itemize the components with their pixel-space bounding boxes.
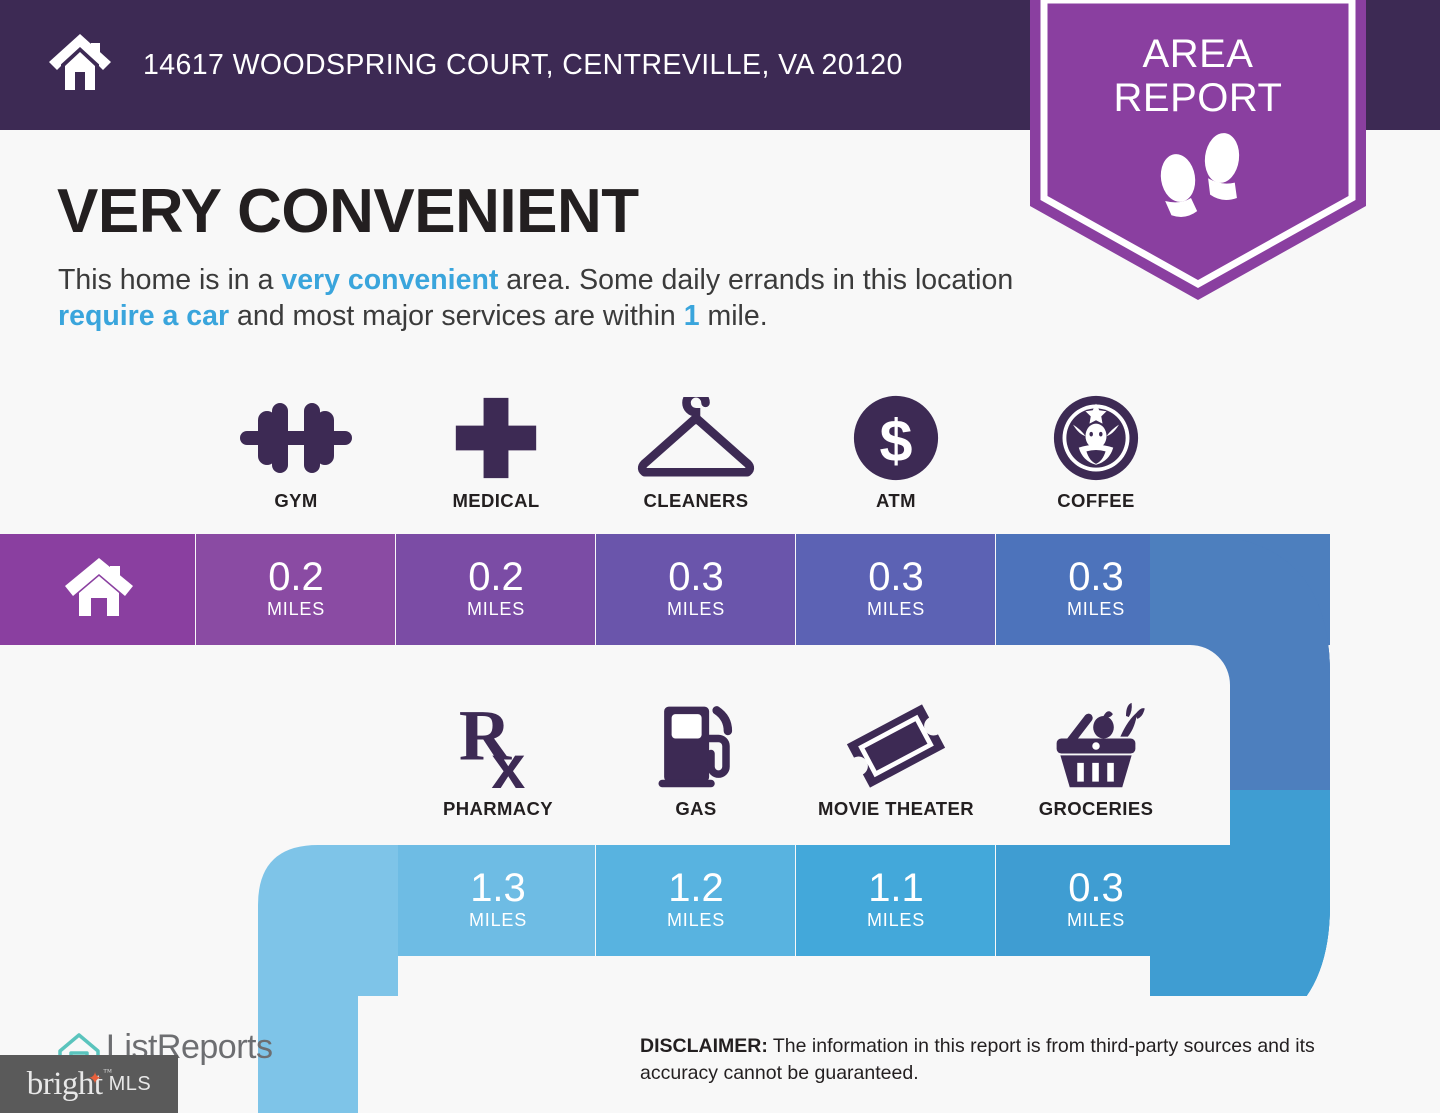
svg-text:$: $ bbox=[880, 407, 913, 474]
dollar-circle-icon: $ bbox=[796, 392, 996, 484]
disclaimer: DISCLAIMER: The information in this repo… bbox=[640, 1033, 1390, 1087]
amenity-label: MOVIE THEATER bbox=[796, 798, 996, 820]
clothes-hanger-icon bbox=[596, 392, 796, 484]
distance-path bbox=[0, 0, 1440, 1113]
mls-brand: bright ✦ ™ bbox=[27, 1066, 103, 1103]
medical-cross-icon bbox=[396, 392, 596, 484]
home-marker-icon bbox=[63, 554, 135, 620]
amenity-label: COFFEE bbox=[996, 490, 1196, 512]
starbucks-siren-icon bbox=[996, 392, 1196, 484]
amenity-gym: GYM bbox=[196, 392, 396, 512]
movie-ticket-icon bbox=[796, 700, 996, 792]
rx-icon: R x bbox=[398, 700, 598, 792]
amenity-pharmacy: R x PHARMACY bbox=[398, 700, 598, 820]
mls-suffix: MLS bbox=[109, 1073, 152, 1096]
amenity-label: CLEANERS bbox=[596, 490, 796, 512]
amenity-label: GYM bbox=[196, 490, 396, 512]
dumbbell-icon bbox=[196, 392, 396, 484]
amenity-coffee: COFFEE bbox=[996, 392, 1196, 512]
amenity-groceries: GROCERIES bbox=[996, 700, 1196, 820]
amenity-cleaners: CLEANERS bbox=[596, 392, 796, 512]
amenity-label: MEDICAL bbox=[396, 490, 596, 512]
grocery-basket-icon bbox=[996, 700, 1196, 792]
area-report-page: 14617 WOODSPRING COURT, CENTREVILLE, VA … bbox=[0, 0, 1440, 1113]
star-icon: ✦ bbox=[88, 1069, 102, 1089]
gas-pump-icon bbox=[596, 700, 796, 792]
bright-mls-watermark: bright ✦ ™ MLS bbox=[0, 1055, 178, 1113]
amenity-movie-theater: MOVIE THEATER bbox=[796, 700, 996, 820]
disclaimer-label: DISCLAIMER: bbox=[640, 1035, 768, 1057]
amenity-medical: MEDICAL bbox=[396, 392, 596, 512]
svg-text:x: x bbox=[491, 733, 525, 792]
amenity-atm: $ ATM bbox=[796, 392, 996, 512]
amenity-gas: GAS bbox=[596, 700, 796, 820]
amenity-label: PHARMACY bbox=[398, 798, 598, 820]
amenity-label: GAS bbox=[596, 798, 796, 820]
amenity-label: GROCERIES bbox=[996, 798, 1196, 820]
trademark-mark: ™ bbox=[103, 1067, 111, 1077]
amenity-label: ATM bbox=[796, 490, 996, 512]
